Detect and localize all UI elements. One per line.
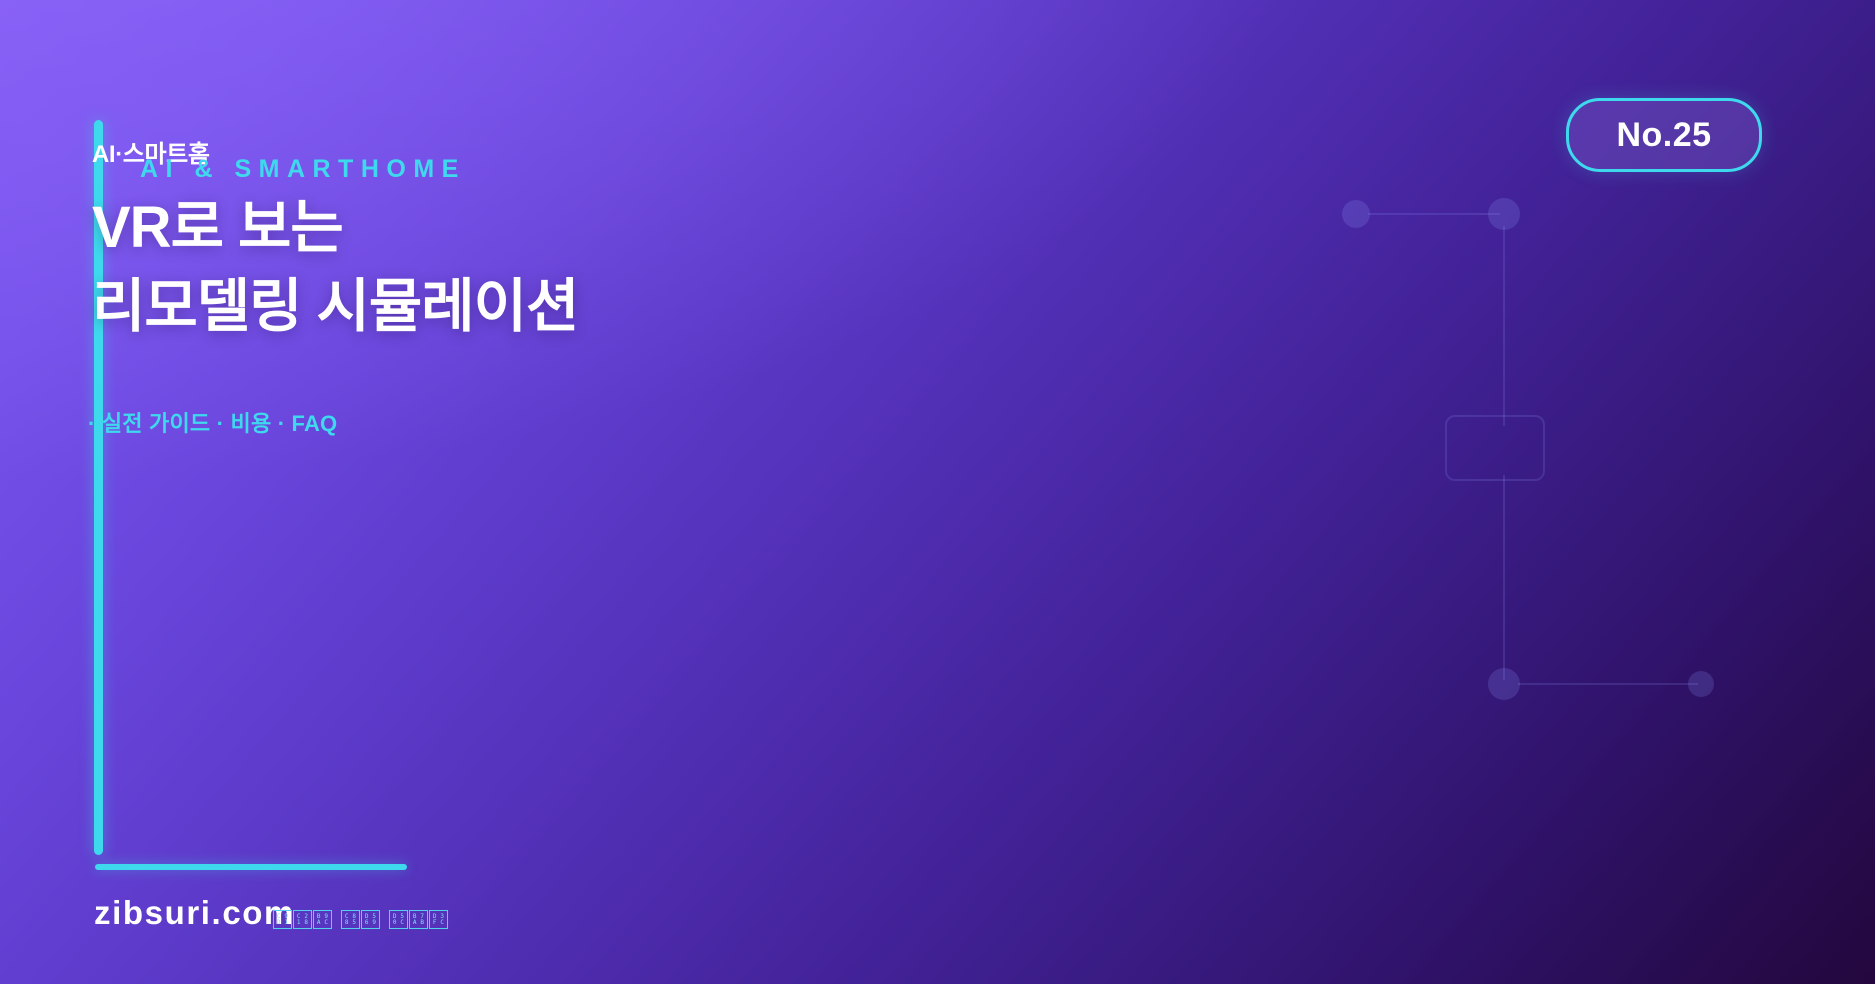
circuit-node-top-left [1342,200,1370,228]
subtitle: · 실전 가이드 · 비용 · FAQ [88,406,337,438]
tagline-word: C9D1C218B9AC [273,910,332,929]
eyebrow-english: AI & SMARTHOME [140,155,466,184]
tagline-word: C885D569 [341,910,380,929]
missing-glyph-box: D3FC [429,910,448,929]
circuit-decoration-icon [1330,190,1830,750]
circuit-block [1445,415,1545,481]
footer-tagline: C9D1C218B9ACC885D569D50CB7ABD3FC [273,910,448,929]
footer: zibsuri.com C9D1C218B9ACC885D569D50CB7AB… [94,894,448,932]
circuit-line-upper-vertical [1503,226,1505,426]
promo-card: No.25 AI·스마트홈 AI & SMARTHOME VR로 보는 리모델링… [0,0,1875,984]
missing-glyph-box: B7AB [409,910,428,929]
missing-glyph-box: B9AC [313,910,332,929]
circuit-line-top [1368,213,1500,215]
headline-line-1: VR로 보는 [92,188,578,267]
tagline-word: D50CB7ABD3FC [389,910,448,929]
circuit-node-bottom-right [1688,671,1714,697]
missing-glyph-box: C218 [293,910,312,929]
divider [95,864,407,870]
missing-glyph-box: D50C [389,910,408,929]
missing-glyph-box: D569 [361,910,380,929]
missing-glyph-box: C885 [341,910,360,929]
page-title: VR로 보는 리모델링 시뮬레이션 [92,188,578,346]
circuit-node-bottom-left [1488,668,1520,700]
headline-line-2: 리모델링 시뮬레이션 [92,267,578,346]
issue-number-label: No.25 [1616,116,1711,155]
circuit-line-bottom [1518,683,1698,685]
brand-logo: zibsuri.com [94,894,295,932]
missing-glyph-box: C9D1 [273,910,292,929]
issue-number-badge: No.25 [1566,98,1762,172]
circuit-line-lower-vertical [1503,475,1505,680]
circuit-node-top-right [1488,198,1520,230]
